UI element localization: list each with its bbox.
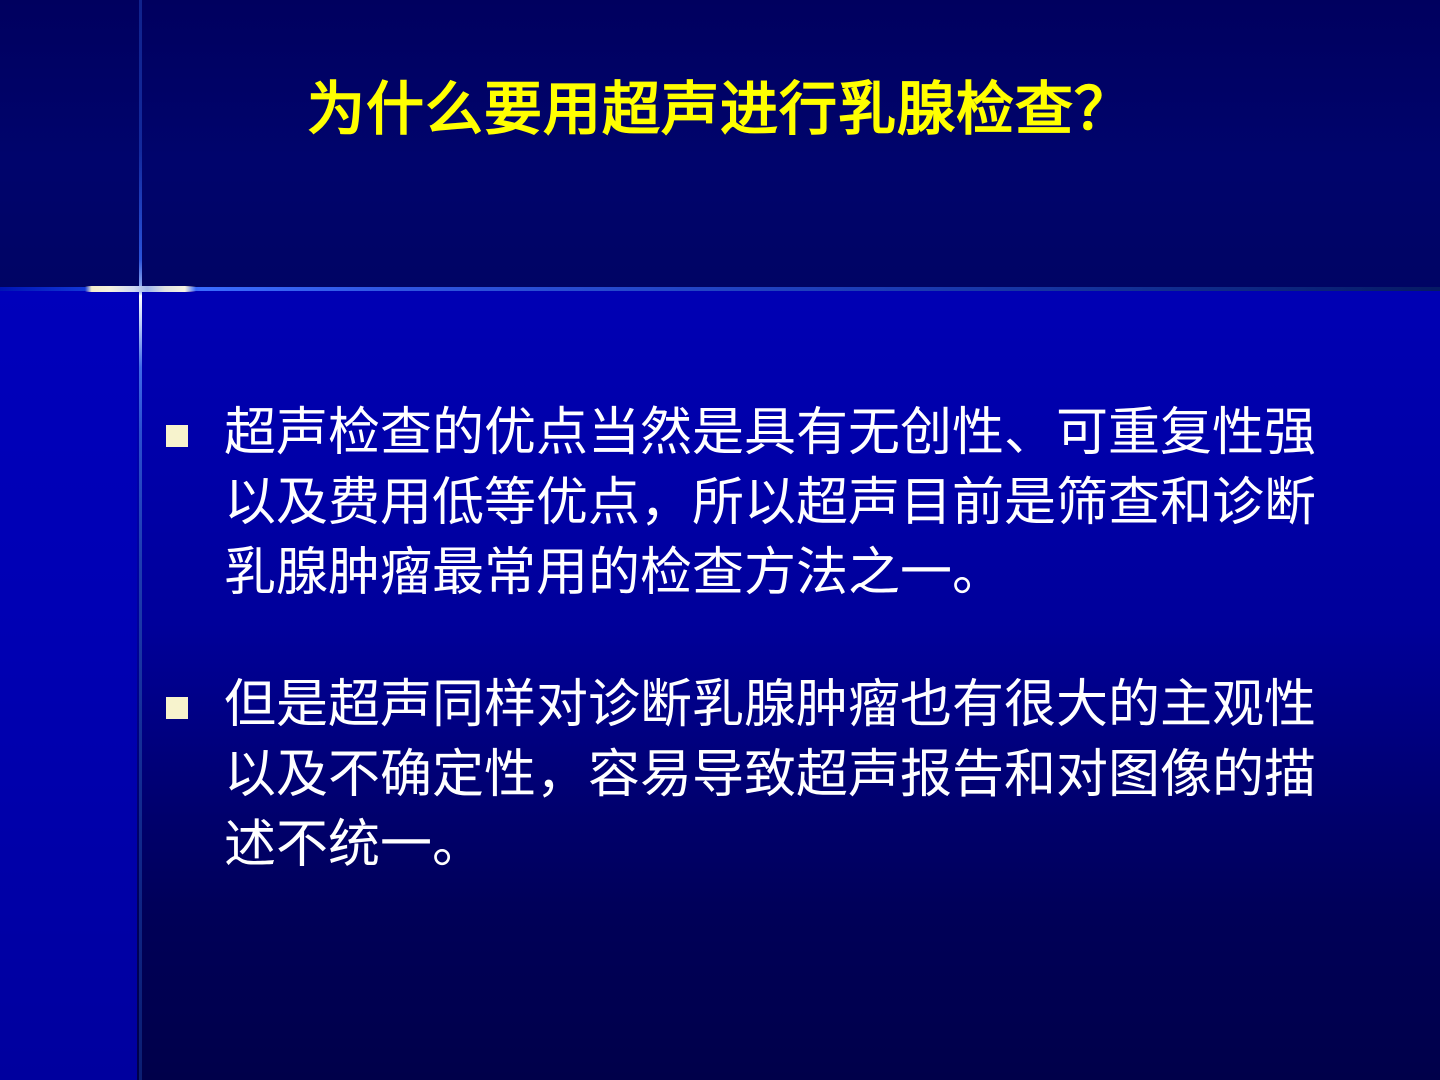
rule-highlight-segment (85, 286, 196, 292)
slide-title: 为什么要用超声进行乳腺检查？ (0, 72, 1440, 146)
bullet-item: 超声检查的优点当然是具有无创性、可重复性强以及费用低等优点，所以超声目前是筛查和… (166, 398, 1316, 608)
square-bullet-icon (166, 697, 188, 719)
slide-canvas: 为什么要用超声进行乳腺检查？ 超声检查的优点当然是具有无创性、可重复性强以及费用… (0, 0, 1440, 1080)
bullet-text: 超声检查的优点当然是具有无创性、可重复性强以及费用低等优点，所以超声目前是筛查和… (224, 398, 1316, 608)
square-bullet-icon (166, 425, 188, 447)
horizontal-accent-rule (0, 287, 1440, 291)
background-left-strip (0, 290, 137, 1080)
vertical-accent-rule (139, 0, 142, 1080)
bullet-item: 但是超声同样对诊断乳腺肿瘤也有很大的主观性以及不确定性，容易导致超声报告和对图像… (166, 670, 1316, 880)
bullet-text: 但是超声同样对诊断乳腺肿瘤也有很大的主观性以及不确定性，容易导致超声报告和对图像… (224, 670, 1316, 880)
slide-body: 超声检查的优点当然是具有无创性、可重复性强以及费用低等优点，所以超声目前是筛查和… (166, 398, 1316, 880)
